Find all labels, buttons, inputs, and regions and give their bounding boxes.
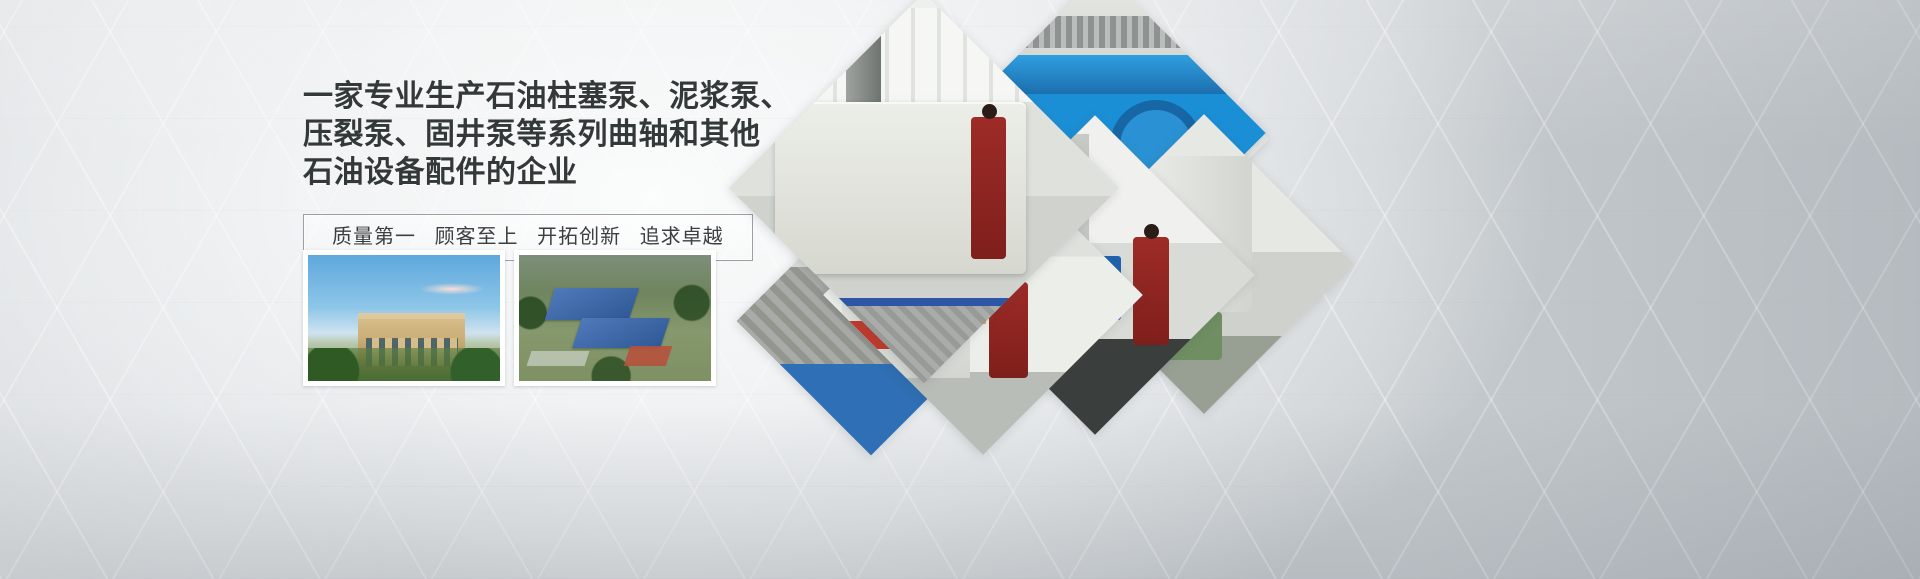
slogan-text: 质量第一 顾客至上 开拓创新 追求卓越 (326, 226, 730, 248)
headline-line-2: 压裂泵、固井泵等系列曲轴和其他 (303, 116, 723, 154)
slogan-item-3: 开拓创新 (531, 226, 627, 248)
cloud-shape (419, 283, 484, 296)
parking-lot-shape (526, 351, 589, 366)
thumbnail-office-building[interactable] (303, 250, 505, 386)
diamond-photo-collage (690, 30, 1330, 410)
machine-rods (973, 16, 1201, 49)
slogan-item-2: 顾客至上 (429, 226, 525, 248)
worker-head (982, 104, 997, 119)
factory-roof-1 (545, 288, 640, 320)
building-windows (366, 338, 458, 366)
sports-court-shape (623, 346, 672, 366)
hero-banner: 一家专业生产石油柱塞泵、泥浆泵、 压裂泵、固井泵等系列曲轴和其他 石油设备配件的… (0, 0, 1920, 579)
headline-line-3: 石油设备配件的企业 (303, 154, 723, 192)
thumbnail-row (303, 250, 716, 386)
window-strip-shape (759, 8, 1057, 102)
office-building-photo (308, 255, 500, 381)
factory-roof-2 (572, 318, 670, 348)
worker-head (1144, 224, 1159, 239)
banner-headline: 一家专业生产石油柱塞泵、泥浆泵、 压裂泵、固井泵等系列曲轴和其他 石油设备配件的… (303, 78, 723, 192)
slogan-item-1: 质量第一 (326, 226, 422, 248)
worker-figure (971, 117, 1006, 258)
headline-line-1: 一家专业生产石油柱塞泵、泥浆泵、 (303, 78, 723, 116)
thumbnail-aerial-factory[interactable] (514, 250, 716, 386)
banner-copy: 一家专业生产石油柱塞泵、泥浆泵、 压裂泵、固井泵等系列曲轴和其他 石油设备配件的… (303, 78, 723, 261)
aerial-factory-photo (519, 255, 711, 381)
